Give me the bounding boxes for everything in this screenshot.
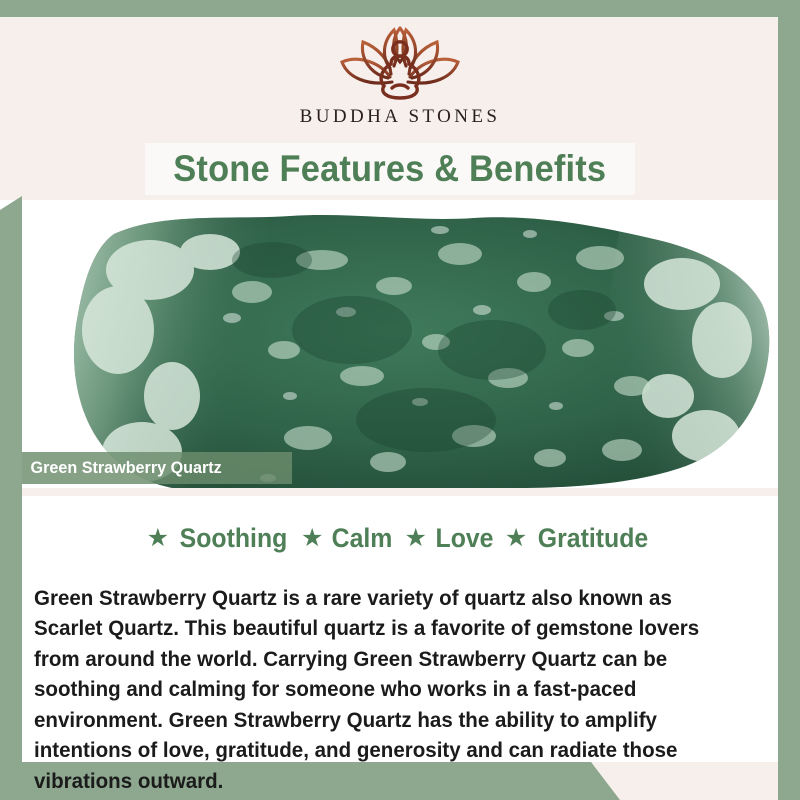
keyword-label: Love: [435, 523, 493, 554]
star-icon: ★: [301, 526, 323, 551]
keyword-list: ★ Soothing ★ Calm ★ Love ★ Gratitude: [22, 518, 778, 558]
frame-band-left: [0, 196, 22, 800]
star-icon: ★: [147, 526, 169, 551]
title-banner: Stone Features & Benefits: [145, 143, 635, 195]
description-text: Green Strawberry Quartz is a rare variet…: [34, 583, 745, 797]
stone-photo: [22, 200, 778, 488]
infographic-poster: BUDDHA STONES Stone Features & Benefits: [0, 0, 800, 800]
star-icon: ★: [404, 526, 426, 551]
keyword-item: ★ Calm: [301, 523, 395, 554]
lotus-meditation-icon: [334, 22, 466, 104]
brand-name: BUDDHA STONES: [300, 106, 501, 128]
frame-band-top: [0, 0, 800, 17]
keyword-label: Calm: [332, 523, 393, 554]
keyword-item: ★ Gratitude: [505, 523, 653, 554]
keyword-item: ★ Soothing: [147, 523, 292, 554]
keyword-item: ★ Love: [404, 523, 495, 554]
page-title: Stone Features & Benefits: [174, 148, 607, 190]
keyword-label: Gratitude: [538, 523, 648, 554]
brand-logo: BUDDHA STONES: [0, 22, 800, 140]
star-icon: ★: [505, 526, 527, 551]
photo-caption-label: Green Strawberry Quartz: [22, 458, 222, 478]
keyword-label: Soothing: [180, 523, 288, 554]
photo-caption: Green Strawberry Quartz: [22, 452, 292, 484]
